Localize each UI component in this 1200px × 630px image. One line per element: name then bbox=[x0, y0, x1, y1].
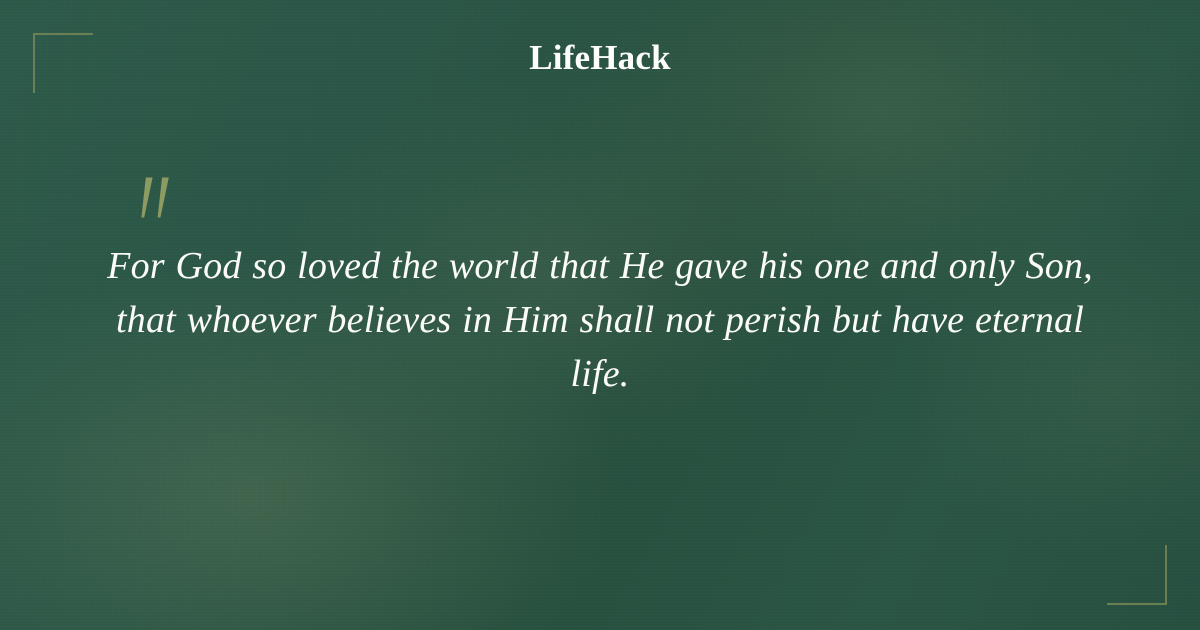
double-quote-mark-icon bbox=[131, 176, 179, 222]
brand-wordmark: LifeHack bbox=[529, 40, 671, 75]
quote-block: For God so loved the world that He gave … bbox=[100, 240, 1100, 402]
quote-text: For God so loved the world that He gave … bbox=[100, 240, 1100, 402]
quote-card: LifeHack For God so loved the world that… bbox=[0, 0, 1200, 630]
brand-header: LifeHack bbox=[0, 40, 1200, 75]
